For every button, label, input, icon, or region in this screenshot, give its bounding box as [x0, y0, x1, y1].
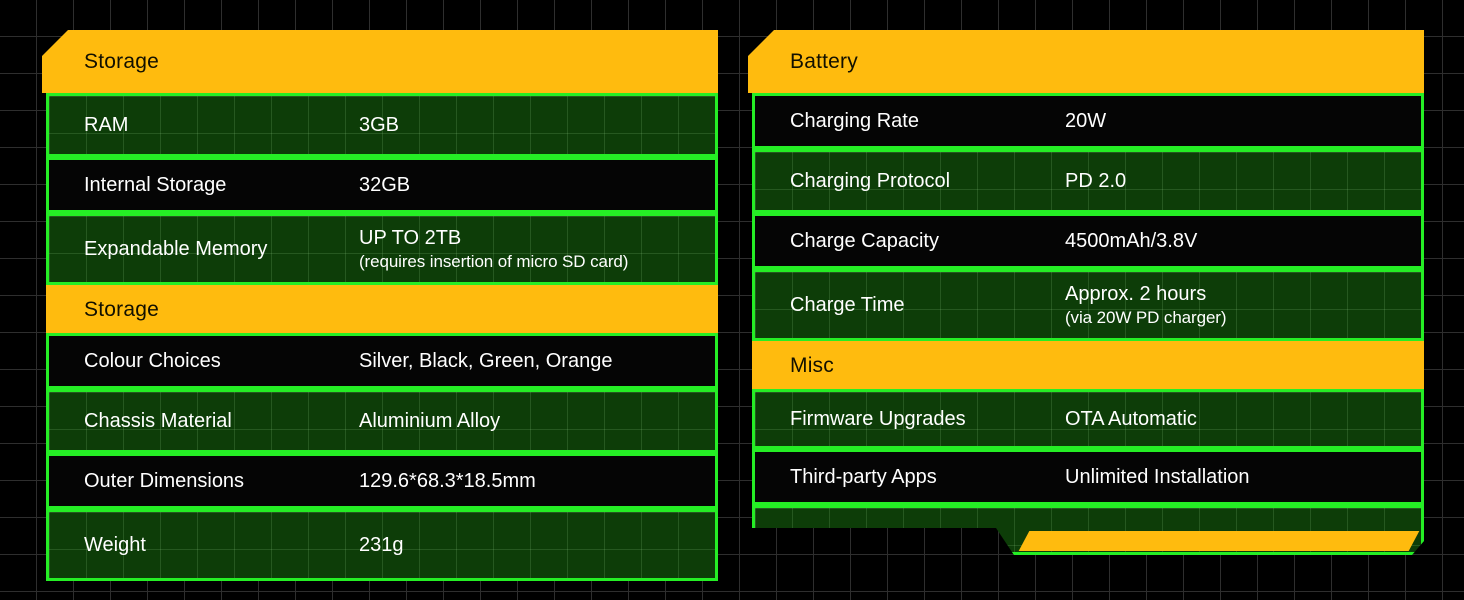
section-title: Storage	[84, 299, 159, 320]
row-value-main: Approx. 2 hours	[1065, 283, 1206, 305]
row-value: 231g	[359, 533, 715, 557]
row-value: 32GB	[359, 173, 715, 197]
table-row: Internal Storage 32GB	[46, 157, 718, 213]
table-row: Outer Dimensions 129.6*68.3*18.5mm	[46, 453, 718, 509]
section-header-battery: Battery	[748, 30, 1424, 93]
section-header-storage-2: Storage	[46, 285, 718, 333]
section-header-storage-1: Storage	[42, 30, 718, 93]
row-value-main: UP TO 2TB	[359, 227, 461, 249]
tail-accent-bar	[1019, 531, 1420, 551]
table-row: Third-party Apps Unlimited Installation	[752, 449, 1424, 505]
table-row: Charging Rate 20W	[752, 93, 1424, 149]
section-title: Misc	[790, 355, 834, 376]
table-row: Weight 231g	[46, 509, 718, 581]
row-key: Charging Protocol	[755, 170, 1065, 193]
panel-tail-decoration	[752, 505, 1424, 561]
row-value: Silver, Black, Green, Orange	[359, 349, 715, 373]
row-key: Charging Rate	[755, 110, 1065, 133]
row-key: Chassis Material	[49, 410, 359, 433]
row-key: Charge Time	[755, 294, 1065, 317]
table-row: Firmware Upgrades OTA Automatic	[752, 389, 1424, 449]
table-row: Colour Choices Silver, Black, Green, Ora…	[46, 333, 718, 389]
left-panel: Storage RAM 3GB Internal Storage 32GB Ex…	[46, 30, 718, 581]
row-key: Outer Dimensions	[49, 470, 359, 493]
row-value: 20W	[1065, 109, 1421, 133]
row-value: OTA Automatic	[1065, 407, 1421, 431]
row-key: Colour Choices	[49, 350, 359, 373]
row-value-note: (via 20W PD charger)	[1065, 308, 1411, 328]
row-key: Weight	[49, 534, 359, 557]
section-header-misc: Misc	[752, 341, 1424, 389]
row-key: Firmware Upgrades	[755, 408, 1065, 431]
row-key: Charge Capacity	[755, 230, 1065, 253]
table-row: Chassis Material Aluminium Alloy	[46, 389, 718, 453]
row-key: RAM	[49, 114, 359, 137]
row-value: UP TO 2TB (requires insertion of micro S…	[359, 226, 715, 272]
row-value: 129.6*68.3*18.5mm	[359, 469, 715, 493]
table-row: Charge Time Approx. 2 hours (via 20W PD …	[752, 269, 1424, 341]
spec-sheet-board: Storage RAM 3GB Internal Storage 32GB Ex…	[0, 0, 1464, 600]
row-value: 4500mAh/3.8V	[1065, 229, 1421, 253]
table-row: Charging Protocol PD 2.0	[752, 149, 1424, 213]
row-key: Third-party Apps	[755, 466, 1065, 489]
section-title: Battery	[790, 51, 858, 72]
right-panel: Battery Charging Rate 20W Charging Proto…	[752, 30, 1424, 561]
row-value: PD 2.0	[1065, 169, 1421, 193]
table-row: Expandable Memory UP TO 2TB (requires in…	[46, 213, 718, 285]
row-key: Expandable Memory	[49, 238, 359, 261]
table-row: RAM 3GB	[46, 93, 718, 157]
row-value-note: (requires insertion of micro SD card)	[359, 252, 705, 272]
row-key: Internal Storage	[49, 174, 359, 197]
row-value: Unlimited Installation	[1065, 465, 1421, 489]
row-value: Approx. 2 hours (via 20W PD charger)	[1065, 282, 1421, 328]
row-value: Aluminium Alloy	[359, 409, 715, 433]
section-title: Storage	[84, 51, 159, 72]
row-value: 3GB	[359, 113, 715, 137]
table-row: Charge Capacity 4500mAh/3.8V	[752, 213, 1424, 269]
